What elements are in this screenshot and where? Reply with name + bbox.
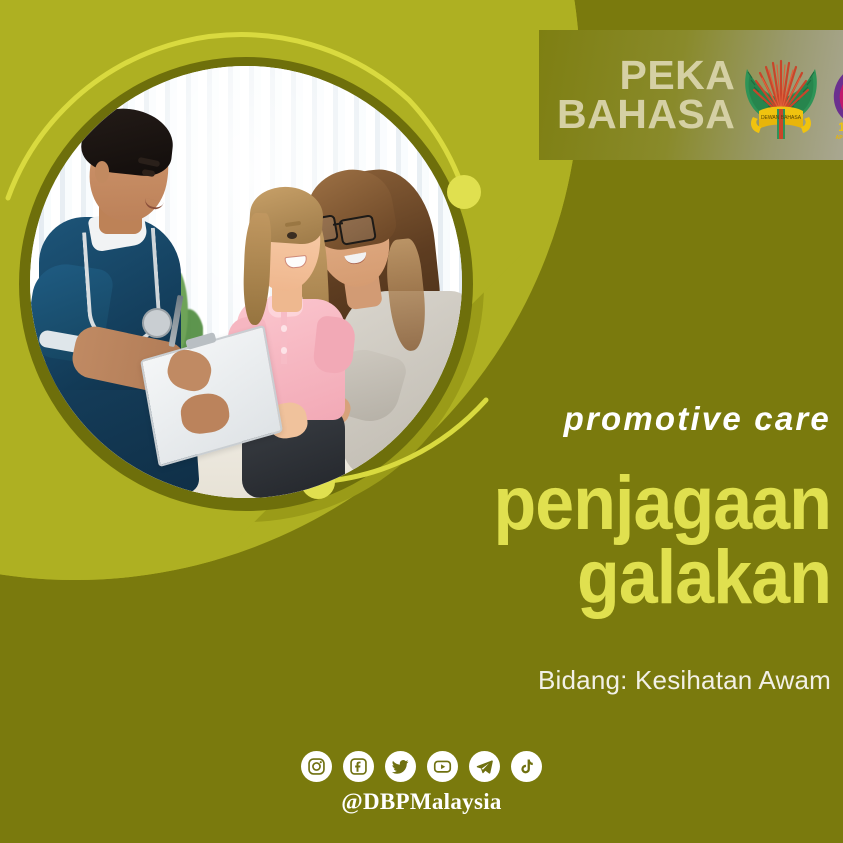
photo-circle [30,66,462,498]
girl-shirt-button-bottom [281,347,288,354]
anniversary-66-logo: 1956-2022 API SEMANGAT BAHASA [827,48,843,142]
malay-term: penjagaan galakan [437,467,831,614]
footer: @DBPMalaysia [0,751,843,815]
field-label: Bidang: Kesihatan Awam [403,665,831,696]
doctor-consulting-mother-and-daughter [30,66,462,498]
dbp-crest-logo: DEWAN BAHASA [739,49,823,141]
facebook-icon[interactable] [343,751,374,782]
header-banner: PEKA BAHASA [539,30,843,160]
anniversary-tagline-text: API SEMANGAT BAHASA [836,135,843,141]
youtube-icon[interactable] [427,751,458,782]
girl-shirt-placket [281,312,286,364]
svg-text:DEWAN BAHASA: DEWAN BAHASA [761,115,802,121]
telegram-icon[interactable] [469,751,500,782]
malay-term-line-1: penjagaan [437,467,831,541]
doctor-ear [95,161,110,183]
malay-term-line-2: galakan [437,541,831,615]
social-media-row [301,751,542,782]
english-term: promotive care [443,400,831,438]
stethoscope-bell [142,308,172,338]
anniversary-years-text: 1956-2022 [839,120,843,134]
twitter-icon[interactable] [385,751,416,782]
peka-bahasa-poster: PEKA BAHASA [0,0,843,843]
social-handle: @DBPMalaysia [341,789,501,815]
peka-bahasa-title: PEKA BAHASA [557,56,735,133]
tiktok-icon[interactable] [511,751,542,782]
instagram-icon[interactable] [301,751,332,782]
